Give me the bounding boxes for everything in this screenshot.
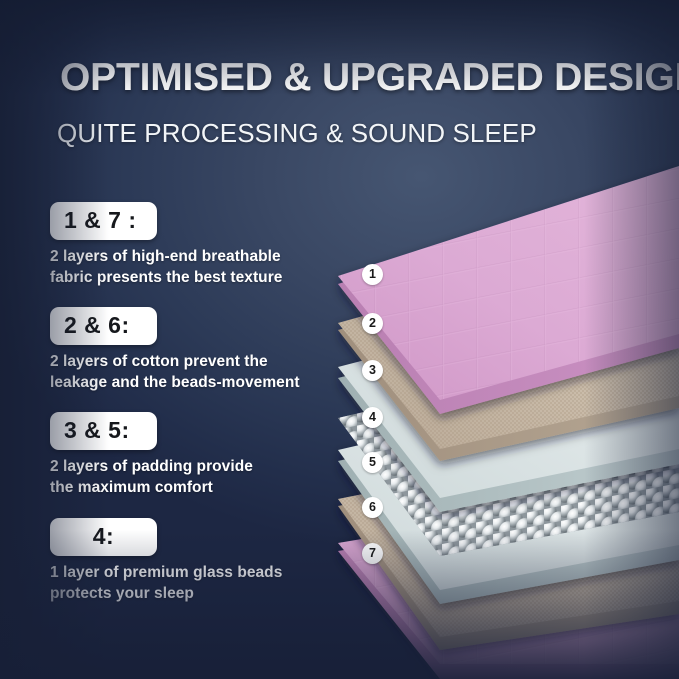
layer-badge-1: 1: [362, 264, 383, 285]
product-infographic: 1 2 3 4 5 6 7 OPTIMISED & UPGRADED DESIG…: [0, 0, 679, 679]
callout-1-and-7-text: 2 layers of high-end breathable fabric p…: [50, 247, 312, 288]
callout-3-and-5-pill: 3 & 5:: [50, 412, 157, 450]
layer-badge-7: 7: [362, 543, 383, 564]
callout-1-and-7-pill: 1 & 7 :: [50, 202, 157, 240]
layer-badge-6: 6: [362, 497, 383, 518]
layer-badge-2: 2: [362, 313, 383, 334]
layer-badge-4: 4: [362, 407, 383, 428]
callout-1-and-7-line2: fabric presents the best texture: [50, 268, 312, 289]
callout-4: 4: 1 layer of premium glass beads protec…: [50, 518, 312, 604]
callout-3-and-5-line2: the maximum comfort: [50, 478, 312, 499]
layer-badge-5: 5: [362, 452, 383, 473]
callout-4-pill: 4:: [50, 518, 157, 556]
callout-4-text: 1 layer of premium glass beads protects …: [50, 563, 312, 604]
callout-1-and-7-line1: 2 layers of high-end breathable: [50, 247, 312, 268]
callout-3-and-5-text: 2 layers of padding provide the maximum …: [50, 457, 312, 498]
callout-3-and-5-line1: 2 layers of padding provide: [50, 457, 312, 478]
callout-2-and-6-line1: 2 layers of cotton prevent the: [50, 352, 312, 373]
callout-4-line1: 1 layer of premium glass beads: [50, 563, 312, 584]
callout-1-and-7: 1 & 7 : 2 layers of high-end breathable …: [50, 202, 312, 288]
page-title: OPTIMISED & UPGRADED DESIGN: [60, 58, 660, 99]
callout-2-and-6-text: 2 layers of cotton prevent the leakage a…: [50, 352, 312, 393]
callout-4-line2: protects your sleep: [50, 584, 312, 605]
callout-2-and-6-line2: leakage and the beads-movement: [50, 373, 312, 394]
callout-2-and-6: 2 & 6: 2 layers of cotton prevent the le…: [50, 307, 312, 393]
callout-2-and-6-pill: 2 & 6:: [50, 307, 157, 345]
callout-3-and-5: 3 & 5: 2 layers of padding provide the m…: [50, 412, 312, 498]
layer-badge-3: 3: [362, 360, 383, 381]
page-subtitle: QUITE PROCESSING & SOUND SLEEP: [57, 118, 657, 149]
